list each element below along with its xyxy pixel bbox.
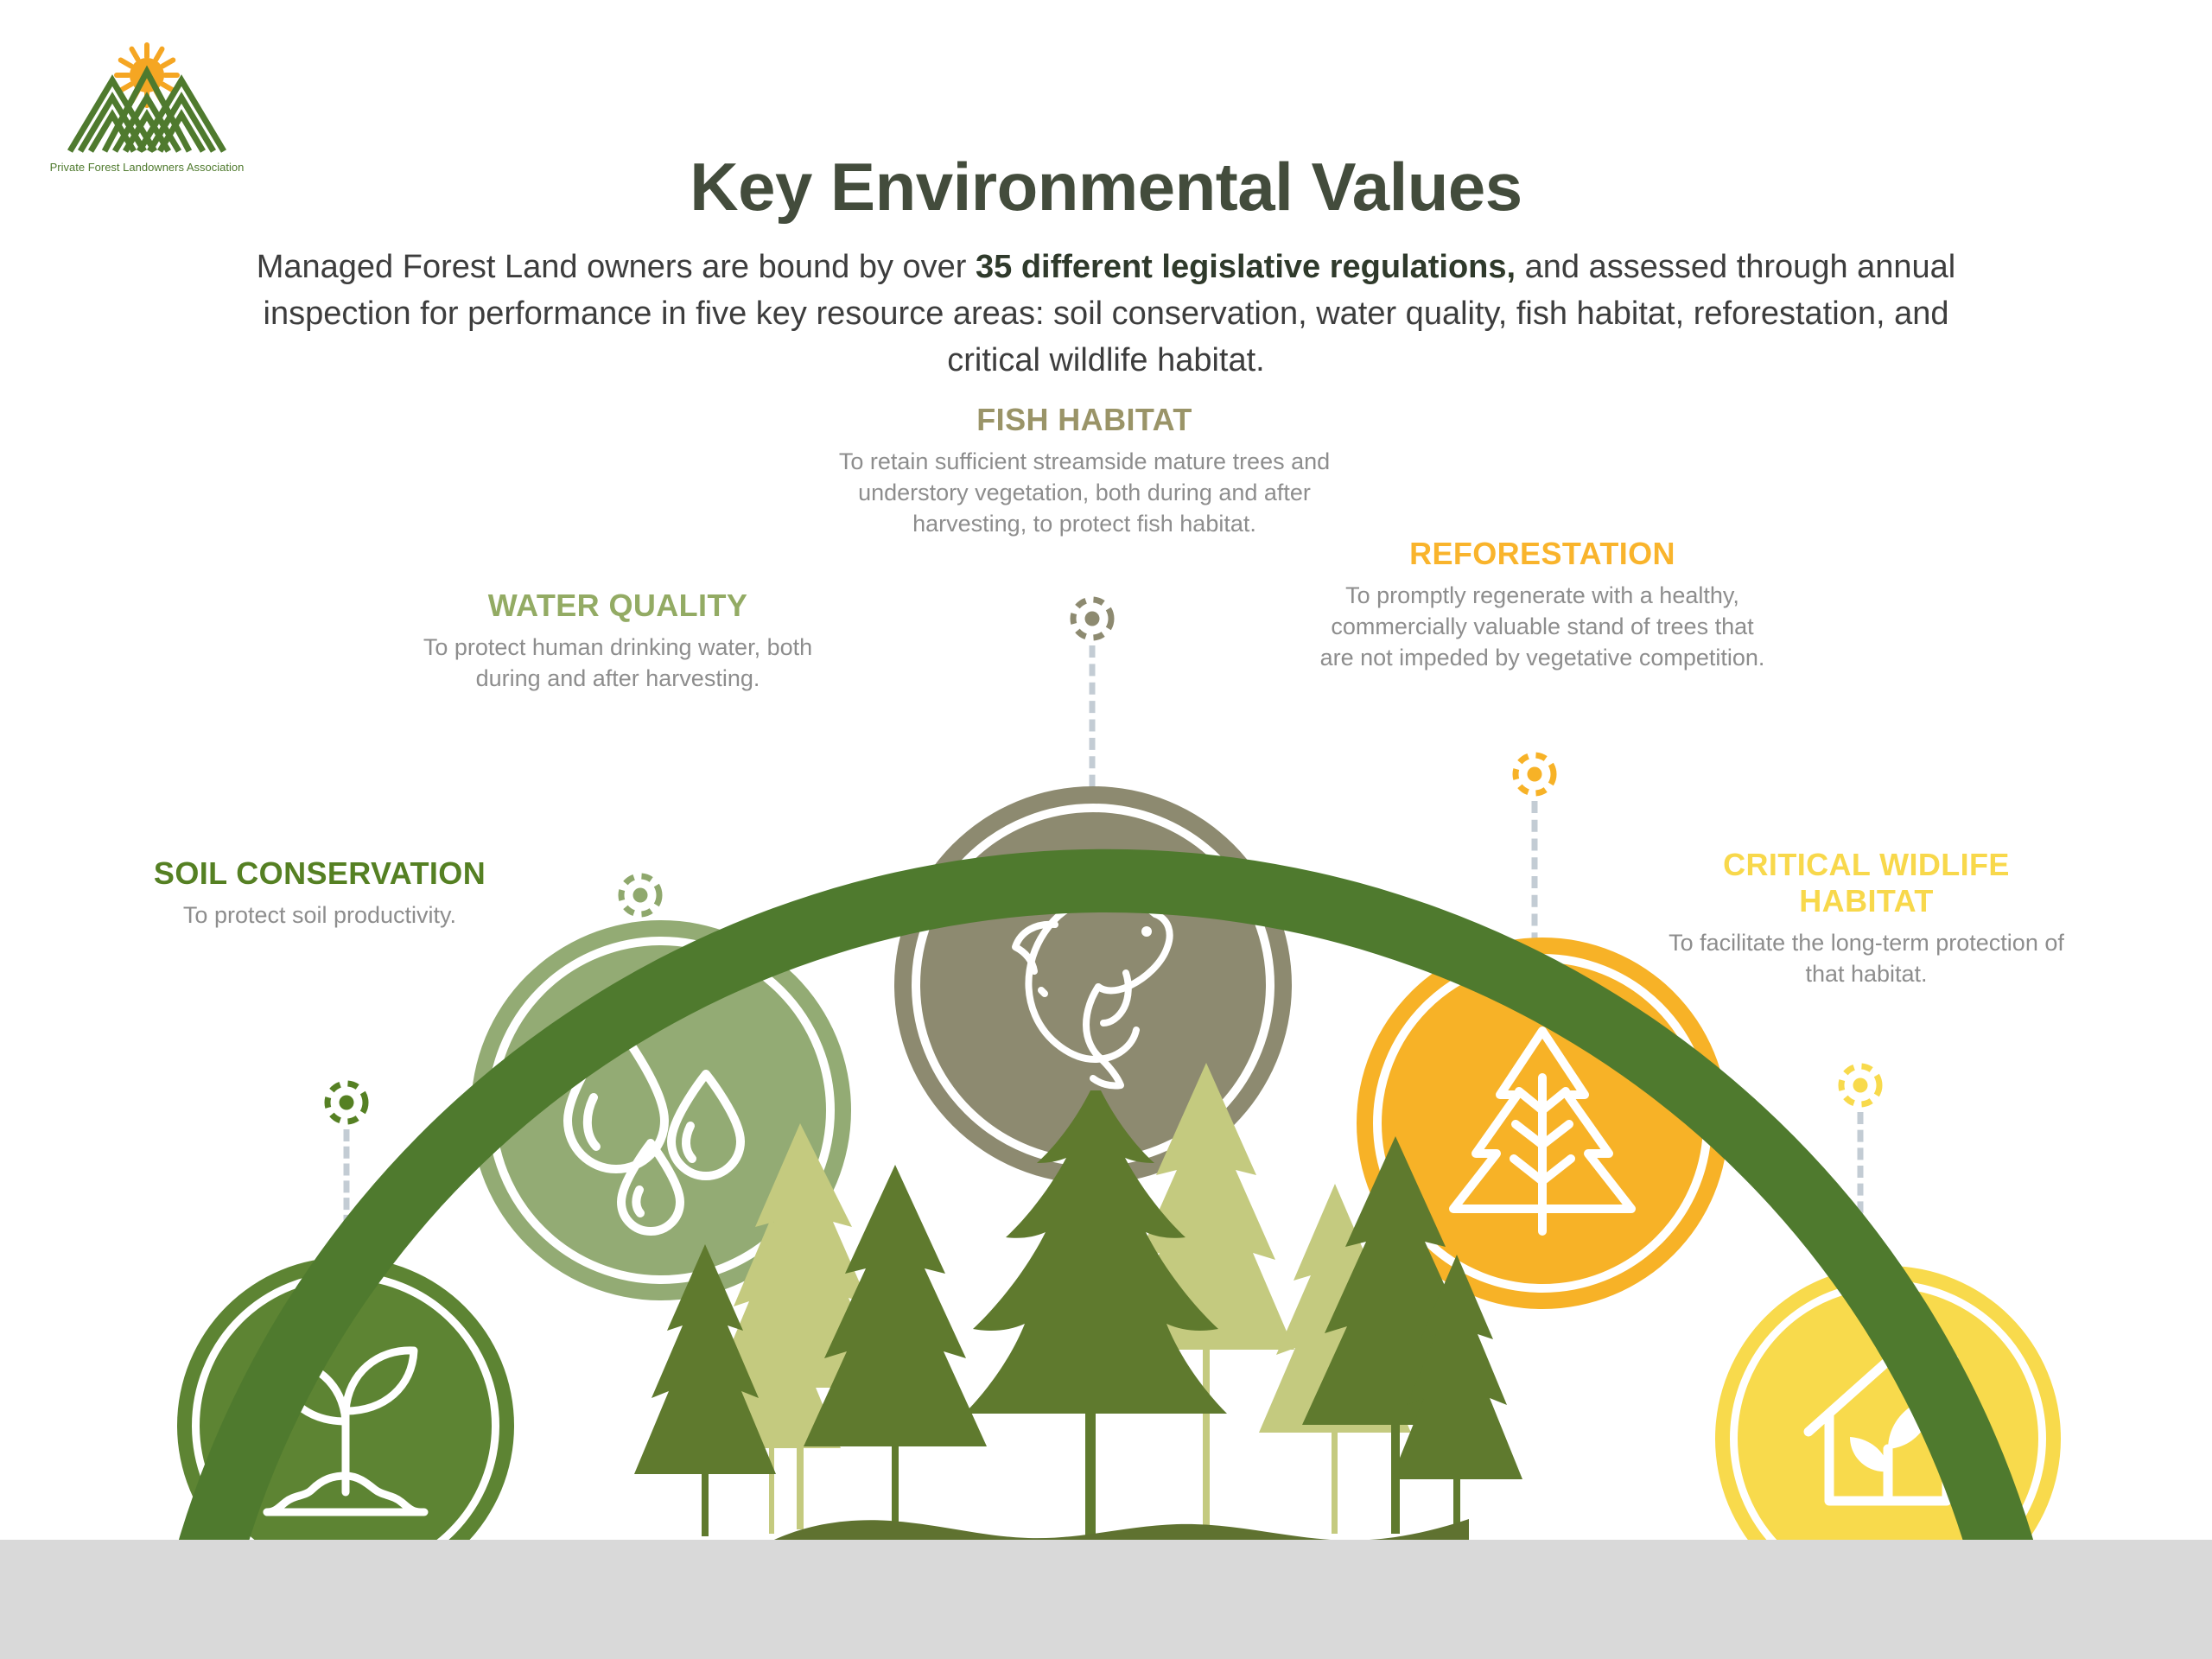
connector-reforestation [1508, 747, 1561, 963]
value-title-reforestation: REFORESTATION [1313, 536, 1771, 572]
value-description-soil: To protect soil productivity. [112, 899, 527, 931]
infographic-canvas: Private Forest Landowners Association Ke… [0, 0, 2212, 1659]
marker-dot-water [613, 868, 667, 922]
page-title: Key Environmental Values [0, 150, 2212, 223]
value-title-fish: FISH HABITAT [829, 402, 1339, 438]
value-title-water: WATER QUALITY [397, 588, 838, 624]
marker-dot-wildlife [1834, 1058, 1887, 1112]
subtitle-part-1: Managed Forest Land owners are bound by … [257, 249, 976, 285]
value-label-water: WATER QUALITY To protect human drinking … [397, 588, 838, 694]
value-title-soil: SOIL CONSERVATION [112, 855, 527, 892]
marker-dot-fish [1065, 592, 1119, 645]
value-label-fish: FISH HABITAT To retain sufficient stream… [829, 402, 1339, 540]
value-circle-reforestation[interactable] [1357, 938, 1728, 1309]
value-title-wildlife: CRITICAL WIDLIFE HABITAT [1659, 847, 2074, 919]
value-circle-water[interactable] [471, 920, 851, 1300]
value-description-fish: To retain sufficient streamside mature t… [829, 446, 1339, 540]
value-description-reforestation: To promptly regenerate with a healthy, c… [1313, 580, 1771, 674]
page-subtitle: Managed Forest Land owners are bound by … [246, 245, 1966, 385]
water-drops-icon [471, 920, 851, 1300]
marker-dot-soil [320, 1076, 373, 1129]
footer-bar [0, 1540, 2212, 1659]
marker-dot-reforestation [1508, 747, 1561, 801]
subtitle-bold-phrase: 35 different legislative regulations, [976, 249, 1516, 285]
value-label-reforestation: REFORESTATION To promptly regenerate wit… [1313, 536, 1771, 674]
pine-tree-icon [1357, 938, 1728, 1309]
value-circle-fish[interactable] [894, 786, 1292, 1184]
connector-fish [1065, 592, 1119, 799]
value-label-soil: SOIL CONSERVATION To protect soil produc… [112, 855, 527, 931]
fish-icon [894, 786, 1292, 1184]
connector-wildlife [1834, 1058, 1887, 1283]
value-description-water: To protect human drinking water, both du… [397, 632, 838, 694]
